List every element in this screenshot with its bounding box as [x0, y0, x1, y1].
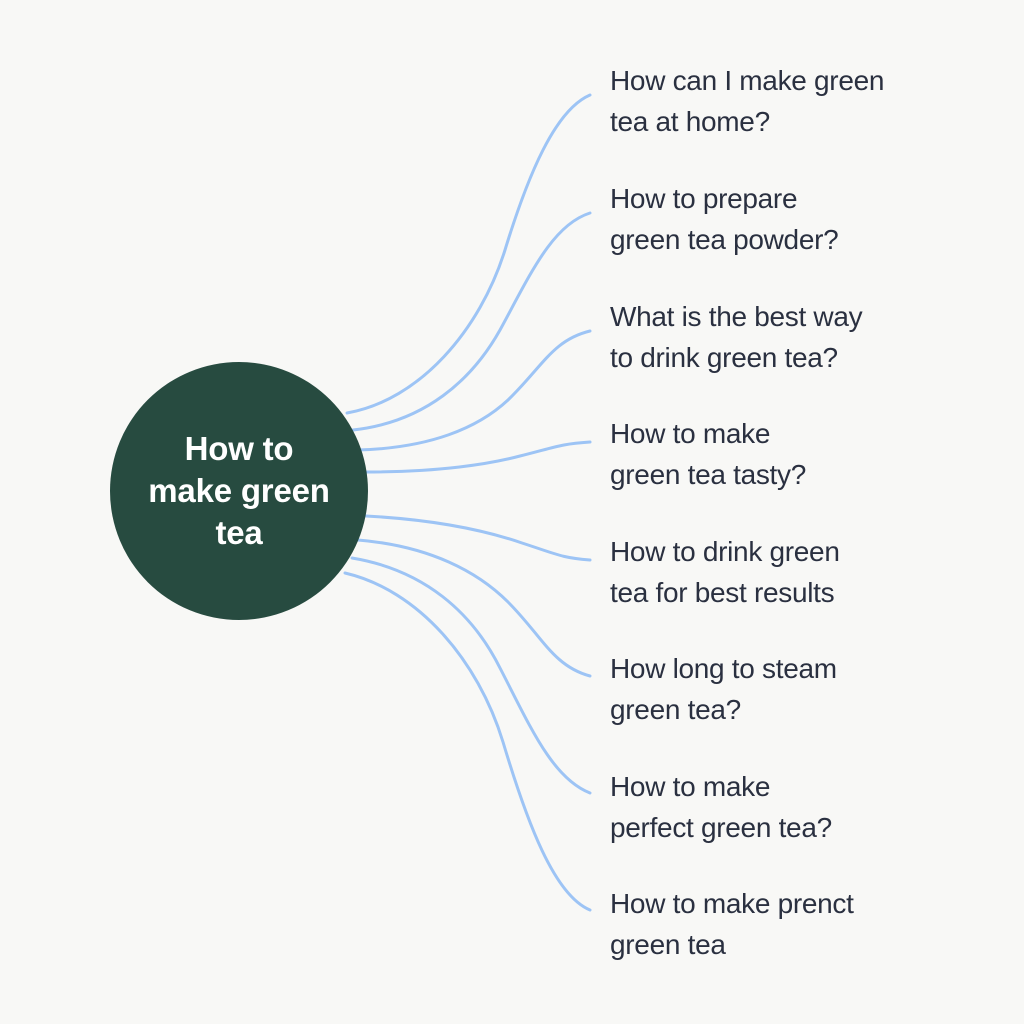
root-node-label: How to make green tea	[134, 428, 343, 554]
mindmap-canvas: How to make green tea How can I make gre…	[0, 0, 1024, 1024]
branch-label-8[interactable]: How to make prenct green tea	[610, 883, 960, 965]
root-node[interactable]: How to make green tea	[110, 362, 368, 620]
branch-label-2[interactable]: How to prepare green tea powder?	[610, 178, 960, 260]
branch-label-4[interactable]: How to make green tea tasty?	[610, 413, 960, 495]
edge-to-branch-5	[366, 516, 590, 560]
branch-label-1[interactable]: How can I make green tea at home?	[610, 60, 960, 142]
branch-label-5[interactable]: How to drink green tea for best results	[610, 531, 960, 613]
edge-to-branch-8	[345, 573, 590, 910]
branch-label-3[interactable]: What is the best way to drink green tea?	[610, 296, 960, 378]
branch-label-7[interactable]: How to make perfect green tea?	[610, 766, 960, 848]
edge-to-branch-3	[358, 331, 590, 450]
branch-label-6[interactable]: How long to steam green tea?	[610, 648, 960, 730]
edge-to-branch-6	[358, 540, 590, 676]
edge-to-branch-1	[347, 95, 590, 413]
edge-to-branch-7	[352, 558, 590, 793]
